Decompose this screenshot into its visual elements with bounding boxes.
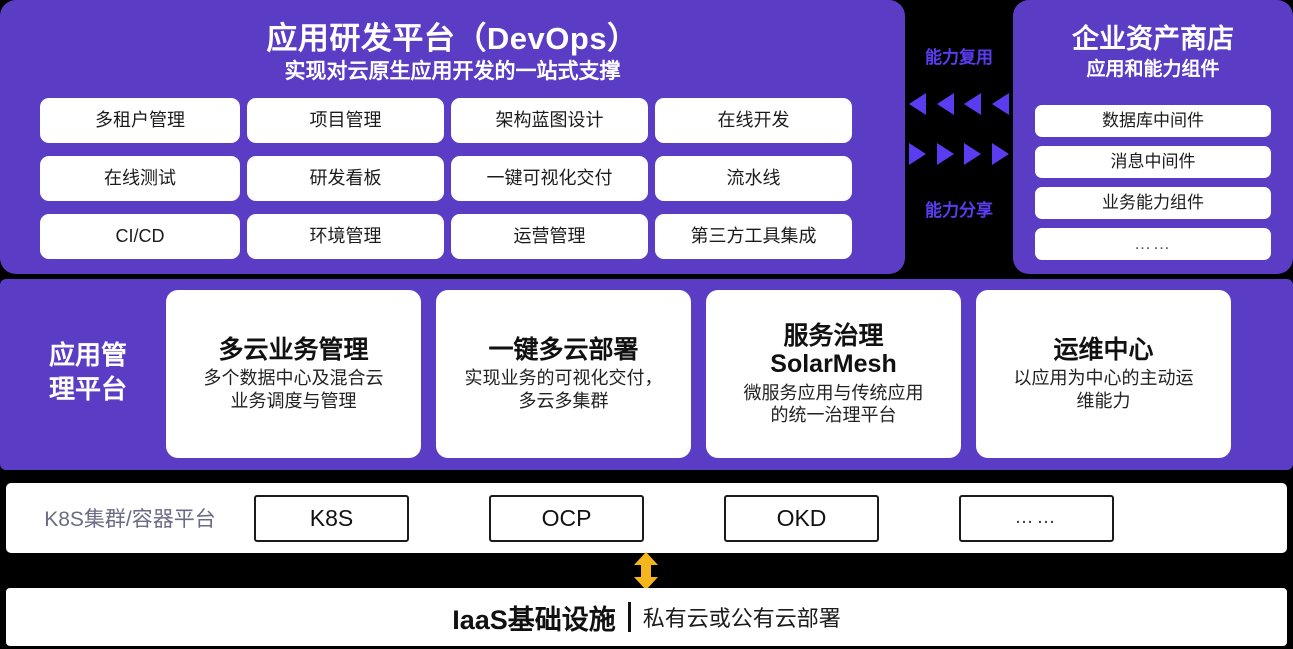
devops-item[interactable]: 架构蓝图设计 — [451, 98, 648, 143]
devops-panel-title: 应用研发平台（DevOps） — [0, 13, 905, 58]
triangle-left-icon — [909, 93, 926, 115]
devops-platform-panel: 应用研发平台（DevOps） 实现对云原生应用开发的一站式支撑 多租户管理 项目… — [0, 0, 905, 274]
management-card-title: 服务治理 SolarMesh — [770, 322, 896, 379]
capability-reuse-arrows — [909, 93, 1009, 115]
asset-store-item[interactable]: 数据库中间件 — [1035, 105, 1271, 137]
capability-share-label: 能力分享 — [905, 196, 1013, 221]
k8s-platform-item[interactable]: K8S — [254, 495, 409, 542]
k8s-platform-list: K8S OCP OKD …… — [254, 495, 1114, 542]
k8s-platform-item[interactable]: OCP — [489, 495, 644, 542]
management-card-title: 一键多云部署 — [488, 336, 638, 365]
triangle-left-icon — [964, 93, 981, 115]
triangle-left-icon — [937, 93, 954, 115]
k8s-cluster-label: K8S集群/容器平台 — [6, 503, 254, 533]
k8s-platform-item-more[interactable]: …… — [959, 495, 1114, 542]
asset-store-item[interactable]: 业务能力组件 — [1035, 187, 1271, 219]
capability-share-arrows — [909, 143, 1009, 165]
devops-item[interactable]: 项目管理 — [247, 98, 444, 143]
devops-item[interactable]: 流水线 — [655, 156, 852, 201]
management-card-list: 多云业务管理 多个数据中心及混合云 业务调度与管理 一键多云部署 实现业务的可视… — [166, 290, 1278, 458]
asset-store-subtitle: 应用和能力组件 — [1013, 54, 1293, 81]
triangle-right-icon — [992, 143, 1009, 165]
devops-capability-grid: 多租户管理 项目管理 架构蓝图设计 在线开发 在线测试 研发看板 一键可视化交付… — [40, 98, 865, 259]
devops-item[interactable]: 在线开发 — [655, 98, 852, 143]
management-card[interactable]: 服务治理 SolarMesh 微服务应用与传统应用 的统一治理平台 — [706, 290, 961, 458]
triangle-left-icon — [992, 93, 1009, 115]
iaas-description: 私有云或公有云部署 — [643, 601, 841, 633]
triangle-right-icon — [964, 143, 981, 165]
management-card-desc: 多个数据中心及混合云 业务调度与管理 — [204, 367, 384, 412]
management-card-title: 运维中心 — [1053, 336, 1153, 365]
management-card[interactable]: 一键多云部署 实现业务的可视化交付， 多云多集群 — [436, 290, 691, 458]
devops-item[interactable]: CI/CD — [40, 214, 240, 259]
devops-item[interactable]: 多租户管理 — [40, 98, 240, 143]
iaas-divider — [628, 602, 631, 632]
enterprise-asset-store-panel: 企业资产商店 应用和能力组件 数据库中间件 消息中间件 业务能力组件 …… — [1013, 0, 1293, 274]
devops-panel-subtitle: 实现对云原生应用开发的一站式支撑 — [0, 55, 905, 85]
asset-store-list: 数据库中间件 消息中间件 业务能力组件 …… — [1035, 105, 1271, 260]
k8s-platform-item[interactable]: OKD — [724, 495, 879, 542]
double-arrow-vertical-icon — [632, 552, 660, 590]
devops-item[interactable]: 第三方工具集成 — [655, 214, 852, 259]
asset-store-item[interactable]: 消息中间件 — [1035, 146, 1271, 178]
management-card-desc: 微服务应用与传统应用 的统一治理平台 — [744, 382, 924, 427]
asset-store-item-more[interactable]: …… — [1035, 228, 1271, 260]
k8s-cluster-bar: K8S集群/容器平台 K8S OCP OKD …… — [6, 483, 1287, 553]
devops-item[interactable]: 环境管理 — [247, 214, 444, 259]
capability-exchange-column: 能力复用 能力分享 — [905, 0, 1013, 274]
architecture-diagram: 应用研发平台（DevOps） 实现对云原生应用开发的一站式支撑 多租户管理 项目… — [0, 0, 1293, 649]
management-card[interactable]: 运维中心 以应用为中心的主动运 维能力 — [976, 290, 1231, 458]
devops-item[interactable]: 研发看板 — [247, 156, 444, 201]
iaas-infrastructure-bar: IaaS基础设施 私有云或公有云部署 — [6, 588, 1287, 646]
asset-store-title: 企业资产商店 — [1013, 17, 1293, 56]
management-card-desc: 实现业务的可视化交付， 多云多集群 — [465, 367, 663, 412]
management-platform-label: 应用管 理平台 — [14, 339, 162, 407]
management-card[interactable]: 多云业务管理 多个数据中心及混合云 业务调度与管理 — [166, 290, 421, 458]
application-management-platform-band: 应用管 理平台 多云业务管理 多个数据中心及混合云 业务调度与管理 一键多云部署… — [0, 279, 1293, 470]
devops-item[interactable]: 在线测试 — [40, 156, 240, 201]
iaas-title: IaaS基础设施 — [452, 598, 616, 637]
devops-item[interactable]: 运营管理 — [451, 214, 648, 259]
capability-reuse-label: 能力复用 — [905, 43, 1013, 68]
devops-item[interactable]: 一键可视化交付 — [451, 156, 648, 201]
triangle-right-icon — [909, 143, 926, 165]
management-card-desc: 以应用为中心的主动运 维能力 — [1014, 367, 1194, 412]
management-card-title: 多云业务管理 — [218, 336, 368, 365]
triangle-right-icon — [937, 143, 954, 165]
